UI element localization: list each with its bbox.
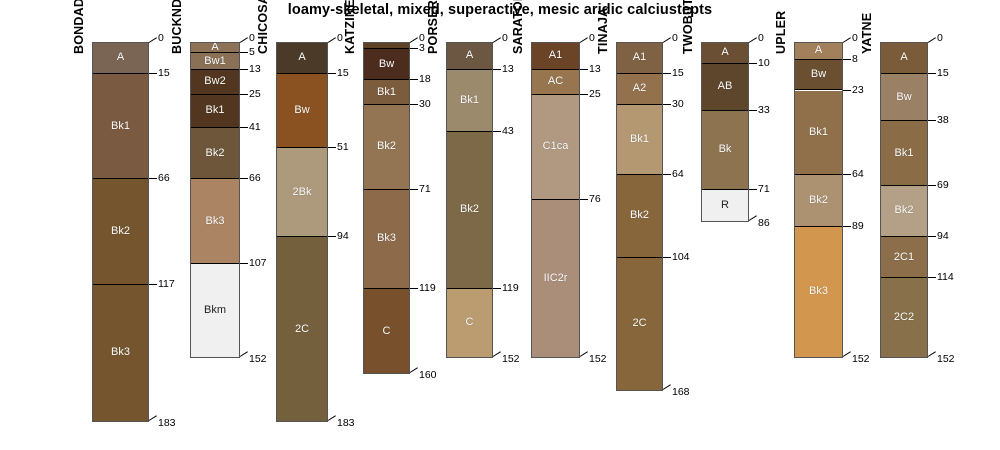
depth-value-label: 152 [937,354,955,365]
depth-value-label: 33 [758,105,770,116]
depth-value-label: 51 [337,142,349,153]
depth-value-label: 0 [502,33,508,44]
depth-tick [493,288,501,289]
depth-tick [749,189,757,190]
depth-tick [328,236,336,237]
depth-tick [928,37,936,43]
soil-horizon: AB [702,64,748,112]
depth-value-label: 0 [337,33,343,44]
horizon-label: Bk1 [206,105,225,116]
soil-horizon: Bk2 [191,128,239,180]
horizon-label: Bk3 [111,347,130,358]
horizon-label: Bk1 [630,134,649,145]
soil-horizon: Bw2 [191,70,239,95]
soil-horizon: C [447,289,492,357]
depth-tick [410,79,418,80]
depth-tick [328,37,336,43]
soil-horizon: IIC2r [532,200,579,357]
horizon-label: A [211,43,218,53]
profile-name-label: YATNE [860,13,874,54]
depth-tick [843,351,851,357]
depth-value-label: 30 [672,99,684,110]
depth-value-label: 8 [852,54,858,65]
depth-value-label: 13 [249,64,261,75]
depth-tick [749,37,757,43]
depth-tick [240,52,248,53]
horizon-label: Bk3 [377,233,396,244]
depth-value-label: 107 [249,258,267,269]
depth-value-label: 15 [937,68,949,79]
horizon-label: AC [548,76,563,87]
depth-value-label: 13 [589,64,601,75]
depth-value-label: 0 [158,33,164,44]
horizon-label: Bk3 [809,286,828,297]
horizon-label: A1 [633,52,646,63]
horizon-label: Bkm [204,305,226,316]
depth-value-label: 183 [158,418,176,429]
horizon-label: C [466,317,474,328]
depth-tick [843,226,851,227]
horizon-label: Bk2 [206,148,225,159]
depth-value-label: 0 [249,33,255,44]
horizon-label: Bk [719,144,732,155]
horizon-label: R [721,200,729,211]
horizon-label: Bk1 [460,95,479,106]
depth-value-label: 94 [937,231,949,242]
depth-value-label: 69 [937,180,949,191]
depth-tick [149,284,157,285]
depth-tick [928,351,936,357]
soil-horizon: Bk3 [93,285,148,421]
soil-horizon: A2 [617,74,662,105]
depth-value-label: 18 [419,74,431,85]
depth-value-label: 43 [502,126,514,137]
depth-tick [149,37,157,43]
depth-tick [328,147,336,148]
horizon-label: C1ca [543,141,569,152]
soil-horizon: Bk3 [364,190,409,289]
depth-value-label: 30 [419,99,431,110]
soil-horizon: Bk2 [795,175,842,227]
profile-column: ABk1Bk2Bk3 [92,42,149,422]
horizon-label: Bk2 [111,226,130,237]
depth-value-label: 25 [589,89,601,100]
depth-tick [149,73,157,74]
profile-name-label: UPLER [774,11,788,54]
soil-horizon: AC [532,70,579,95]
depth-tick [663,174,671,175]
soil-horizon: A [277,43,327,74]
depth-value-label: 10 [758,58,770,69]
soil-horizon: Bk2 [447,132,492,289]
depth-tick [749,110,757,111]
depth-value-label: 15 [158,68,170,79]
profile-name-label: BONDAD [72,0,86,54]
depth-tick [493,37,501,43]
depth-value-label: 104 [672,252,690,263]
horizon-label: A [721,47,728,58]
depth-tick [580,94,588,95]
soil-horizon: Bk2 [881,186,927,238]
horizon-label: IIC2r [544,273,568,284]
depth-tick [328,73,336,74]
soil-horizon: A [447,43,492,70]
horizon-label: A [466,50,473,61]
soil-horizon: R [702,190,748,221]
soil-horizon: Bk [702,111,748,189]
soil-horizon: Bk2 [364,105,409,190]
profile-name-label: PORSER [426,0,440,54]
profile-column: ABk1Bk2C [446,42,493,358]
depth-tick [240,351,248,357]
soil-horizon: Bw [364,49,409,80]
horizon-label: A2 [633,83,646,94]
soil-horizon: Bk1 [93,74,148,179]
horizon-label: Bk1 [111,121,130,132]
soil-horizon: A1 [532,43,579,70]
horizon-label: A [815,45,822,56]
depth-tick [410,189,418,190]
profile-column: AABBkR [701,42,749,222]
depth-value-label: 15 [672,68,684,79]
depth-tick [410,288,418,289]
soil-horizon: A [881,43,927,74]
profile-name-label: CHICOSA [256,0,270,54]
profile-column: A1ACC1caIIC2r [531,42,580,358]
depth-value-label: 64 [672,169,684,180]
depth-value-label: 66 [249,173,261,184]
horizon-label: AB [718,81,733,92]
depth-value-label: 119 [419,283,436,294]
soil-horizon: Bk3 [795,227,842,357]
horizon-label: A1 [549,50,562,61]
depth-tick [843,174,851,175]
horizon-label: Bk1 [895,148,914,159]
depth-value-label: 0 [589,33,595,44]
soil-horizon: Bk1 [795,91,842,176]
soil-horizon: Bk1 [191,95,239,128]
horizon-label: 2C [632,318,646,329]
soil-horizon: Bk3 [191,179,239,264]
profile-name-label: KATZINE [343,0,357,54]
profile-name-label: BUCKNDOE [170,0,184,54]
depth-tick [843,59,851,60]
horizon-label: 2C2 [894,312,914,323]
depth-value-label: 66 [158,173,170,184]
soil-horizon: Bkm [191,264,239,357]
profile-column: ABwBk1Bk22C12C2 [880,42,928,358]
depth-tick [493,69,501,70]
depth-tick [843,90,851,91]
depth-tick [580,37,588,43]
depth-tick [928,236,936,237]
soil-horizon: Bw [277,74,327,148]
depth-tick [928,277,936,278]
depth-tick [240,37,248,43]
depth-value-label: 38 [937,115,949,126]
depth-value-label: 168 [672,387,690,398]
depth-value-label: 114 [937,272,954,283]
soil-profiles-container: BONDADABk1Bk2Bk301566117183BUCKNDOEABw1B… [0,0,1000,450]
depth-value-label: 0 [672,33,678,44]
soil-horizon: Bw [881,74,927,122]
depth-value-label: 86 [758,218,770,229]
soil-horizon: A [191,43,239,53]
depth-value-label: 3 [419,43,425,54]
horizon-label: Bk2 [377,141,396,152]
depth-tick [928,73,936,74]
depth-value-label: 152 [249,354,267,365]
depth-tick [928,185,936,186]
depth-tick [410,48,418,49]
profile-name-label: TWOBUTTE [681,0,695,54]
depth-tick [928,120,936,121]
profile-column: ABwBk1Bk2Bk3C [363,42,410,374]
depth-value-label: 152 [589,354,607,365]
profile-name-label: SARATON [511,0,525,54]
depth-tick [240,263,248,264]
depth-value-label: 94 [337,231,349,242]
depth-value-label: 25 [249,89,261,100]
depth-tick [749,63,757,64]
depth-tick [328,415,336,421]
soil-horizon: Bw [795,60,842,91]
depth-value-label: 0 [852,33,858,44]
depth-value-label: 15 [337,68,349,79]
soil-horizon: C [364,289,409,374]
soil-horizon: 2Bk [277,148,327,237]
depth-value-label: 13 [502,64,514,75]
horizon-label: A [117,52,124,63]
soil-horizon: Bk1 [364,80,409,105]
depth-value-label: 119 [502,283,519,294]
soil-horizon: 2C2 [881,278,927,356]
horizon-label: Bk2 [809,195,828,206]
depth-value-label: 0 [758,33,764,44]
depth-value-label: 41 [249,122,261,133]
depth-tick [663,37,671,43]
depth-tick [663,257,671,258]
profile-column: A1A2Bk1Bk22C [616,42,663,391]
depth-value-label: 152 [502,354,520,365]
depth-tick [240,178,248,179]
depth-value-label: 76 [589,194,601,205]
horizon-label: Bk1 [809,127,828,138]
depth-value-label: 117 [158,279,175,290]
soil-horizon: A [93,43,148,74]
soil-horizon: Bk1 [617,105,662,175]
depth-tick [580,69,588,70]
soil-horizon: A [795,43,842,60]
horizon-label: A [298,52,305,63]
depth-tick [843,37,851,43]
horizon-label: 2C [295,324,309,335]
profile-column: ABw1Bw2Bk1Bk2Bk3Bkm [190,42,240,358]
horizon-label: Bk2 [630,210,649,221]
depth-tick [240,127,248,128]
soil-horizon: Bw1 [191,53,239,70]
depth-value-label: 64 [852,169,864,180]
soil-horizon: Bk2 [93,179,148,284]
soil-horizon: C1ca [532,95,579,200]
soil-horizon: Bk1 [881,121,927,185]
depth-tick [663,384,671,390]
horizon-label: Bk2 [895,205,914,216]
depth-tick [410,37,418,43]
horizon-label: Bk1 [377,87,396,98]
depth-value-label: 183 [337,418,355,429]
horizon-label: Bw [811,69,826,80]
horizon-label: Bw [379,59,394,70]
horizon-label: Bw2 [204,76,225,87]
depth-tick [749,215,757,221]
depth-value-label: 0 [937,33,943,44]
horizon-label: C [383,326,391,337]
profile-column: ABwBk1Bk2Bk3 [794,42,843,358]
depth-value-label: 89 [852,221,864,232]
depth-value-label: 5 [249,47,255,58]
depth-value-label: 152 [852,354,870,365]
soil-horizon: Bk1 [447,70,492,132]
depth-tick [240,94,248,95]
profile-name-label: TINAJA [596,8,610,54]
horizon-label: Bw [294,105,309,116]
depth-tick [240,69,248,70]
soil-horizon: Bk2 [617,175,662,258]
depth-tick [149,178,157,179]
soil-horizon: 2C1 [881,237,927,278]
horizon-label: Bw1 [204,56,225,67]
soil-horizon: A [702,43,748,64]
depth-tick [493,131,501,132]
depth-tick [149,415,157,421]
depth-value-label: 160 [419,370,437,381]
horizon-label: 2C1 [894,252,914,263]
depth-tick [580,199,588,200]
horizon-label: 2Bk [293,187,312,198]
depth-tick [410,104,418,105]
soil-horizon: 2C [617,258,662,390]
soil-horizon: A1 [617,43,662,74]
depth-value-label: 23 [852,85,864,96]
depth-tick [580,351,588,357]
depth-value-label: 71 [419,184,431,195]
horizon-label: Bk2 [460,204,479,215]
depth-value-label: 71 [758,184,770,195]
depth-tick [663,73,671,74]
horizon-label: A [900,52,907,63]
horizon-label: Bw [896,92,911,103]
horizon-label: Bk3 [206,216,225,227]
depth-tick [410,368,418,374]
profile-column: ABw2Bk2C [276,42,328,422]
depth-tick [663,104,671,105]
soil-horizon: 2C [277,237,327,421]
depth-tick [493,351,501,357]
